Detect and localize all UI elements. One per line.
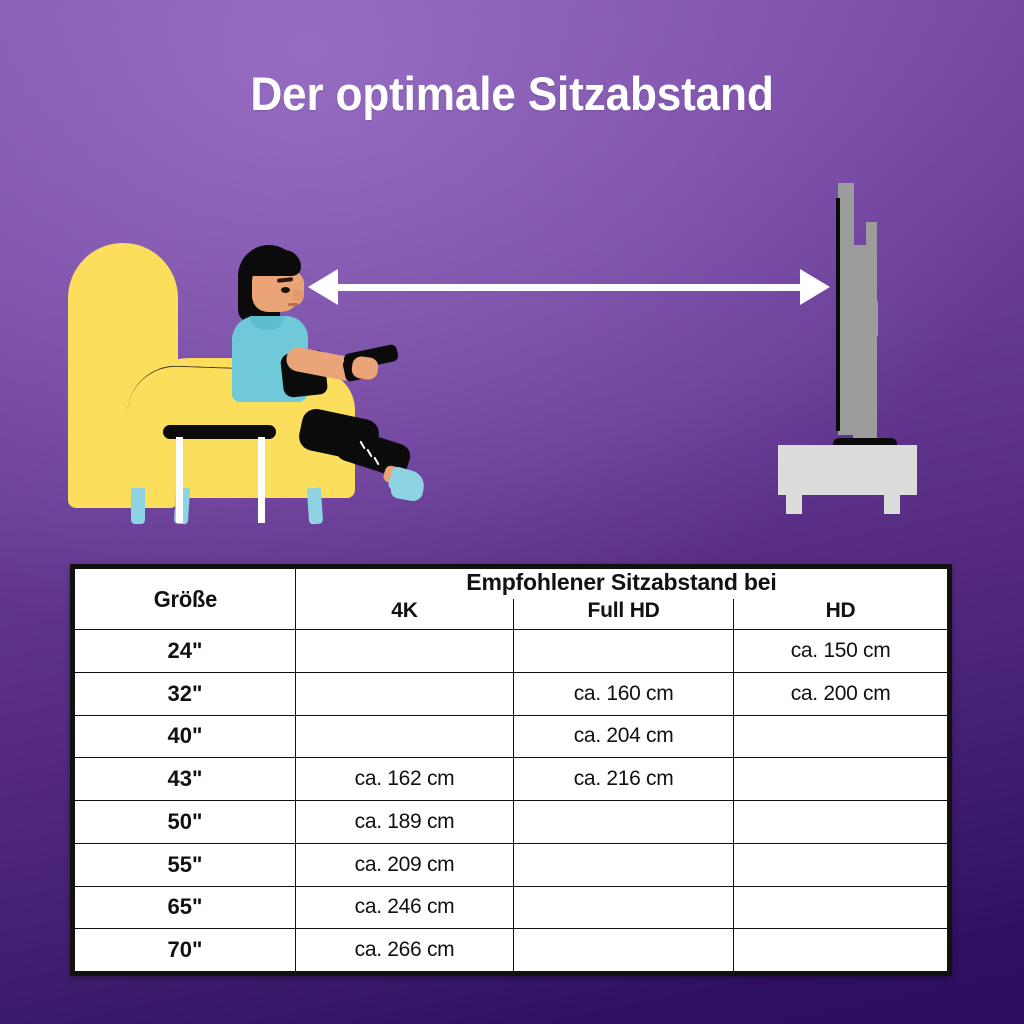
row-size: 70" bbox=[75, 929, 296, 972]
cell-4k: ca. 266 cm bbox=[295, 929, 513, 972]
header-col-fullhd: Full HD bbox=[514, 599, 734, 630]
cell-fullhd: ca. 160 cm bbox=[514, 672, 734, 715]
person-hair-fringe bbox=[249, 250, 301, 276]
row-size: 65" bbox=[75, 886, 296, 929]
cell-hd bbox=[734, 758, 948, 801]
row-size: 24" bbox=[75, 630, 296, 673]
armchair-leg bbox=[131, 488, 145, 524]
cell-hd bbox=[734, 886, 948, 929]
infographic-root: Der optimale Sitzabstand bbox=[0, 0, 1024, 1024]
cell-4k: ca. 189 cm bbox=[295, 801, 513, 844]
footstool-leg bbox=[176, 437, 183, 523]
table-row: 24" ca. 150 cm bbox=[75, 630, 948, 673]
row-size: 55" bbox=[75, 843, 296, 886]
person-mouth bbox=[288, 303, 298, 306]
arrow-right-icon bbox=[800, 269, 830, 305]
tv-cabinet bbox=[778, 445, 917, 495]
table: Größe Empfohlener Sitzabstand bei 4K Ful… bbox=[74, 568, 948, 972]
cell-fullhd: ca. 216 cm bbox=[514, 758, 734, 801]
header-group: Empfohlener Sitzabstand bei bbox=[295, 569, 947, 600]
cell-hd bbox=[734, 801, 948, 844]
cell-fullhd: ca. 204 cm bbox=[514, 715, 734, 758]
cell-hd bbox=[734, 843, 948, 886]
person-eye bbox=[281, 287, 290, 293]
footstool-leg bbox=[258, 437, 265, 523]
tv-screen-edge bbox=[836, 198, 840, 431]
armchair-leg bbox=[307, 488, 323, 525]
header-col-4k: 4K bbox=[295, 599, 513, 630]
row-size: 40" bbox=[75, 715, 296, 758]
row-size: 43" bbox=[75, 758, 296, 801]
header-size: Größe bbox=[80, 569, 290, 630]
table-row: 50" ca. 189 cm bbox=[75, 801, 948, 844]
cell-fullhd bbox=[514, 843, 734, 886]
person-sleeve bbox=[232, 330, 280, 378]
cell-4k bbox=[295, 630, 513, 673]
arrow-left-icon bbox=[308, 269, 338, 305]
tv-cabinet-leg bbox=[884, 495, 900, 514]
cell-hd bbox=[734, 929, 948, 972]
table-head: Größe Empfohlener Sitzabstand bei 4K Ful… bbox=[75, 569, 948, 630]
table-row: 55" ca. 209 cm bbox=[75, 843, 948, 886]
cell-hd bbox=[734, 715, 948, 758]
table-row: 70" ca. 266 cm bbox=[75, 929, 948, 972]
cell-4k: ca. 209 cm bbox=[295, 843, 513, 886]
cell-fullhd bbox=[514, 630, 734, 673]
header-col-hd: HD bbox=[734, 599, 948, 630]
table-row: 32" ca. 160 cm ca. 200 cm bbox=[75, 672, 948, 715]
cell-4k bbox=[295, 715, 513, 758]
table-row: 40" ca. 204 cm bbox=[75, 715, 948, 758]
table-header-row-1: Größe Empfohlener Sitzabstand bei bbox=[75, 569, 948, 600]
viewing-distance-table: Größe Empfohlener Sitzabstand bei 4K Ful… bbox=[70, 564, 952, 976]
distance-arrow-line bbox=[330, 284, 824, 291]
cell-fullhd bbox=[514, 801, 734, 844]
cell-4k: ca. 162 cm bbox=[295, 758, 513, 801]
table-row: 65" ca. 246 cm bbox=[75, 886, 948, 929]
tv-cabinet-leg bbox=[786, 495, 802, 514]
tv-screen-panel bbox=[838, 183, 854, 435]
table-body: 24" ca. 150 cm 32" ca. 160 cm ca. 200 cm… bbox=[75, 630, 948, 972]
tv-stand-neck bbox=[862, 390, 875, 445]
cell-4k bbox=[295, 672, 513, 715]
cell-fullhd bbox=[514, 929, 734, 972]
illustration-scene bbox=[0, 0, 1024, 545]
cell-fullhd bbox=[514, 886, 734, 929]
row-size: 32" bbox=[75, 672, 296, 715]
cell-hd: ca. 200 cm bbox=[734, 672, 948, 715]
cell-4k: ca. 246 cm bbox=[295, 886, 513, 929]
row-size: 50" bbox=[75, 801, 296, 844]
person-hand bbox=[351, 355, 380, 380]
cell-hd: ca. 150 cm bbox=[734, 630, 948, 673]
table-row: 43" ca. 162 cm ca. 216 cm bbox=[75, 758, 948, 801]
